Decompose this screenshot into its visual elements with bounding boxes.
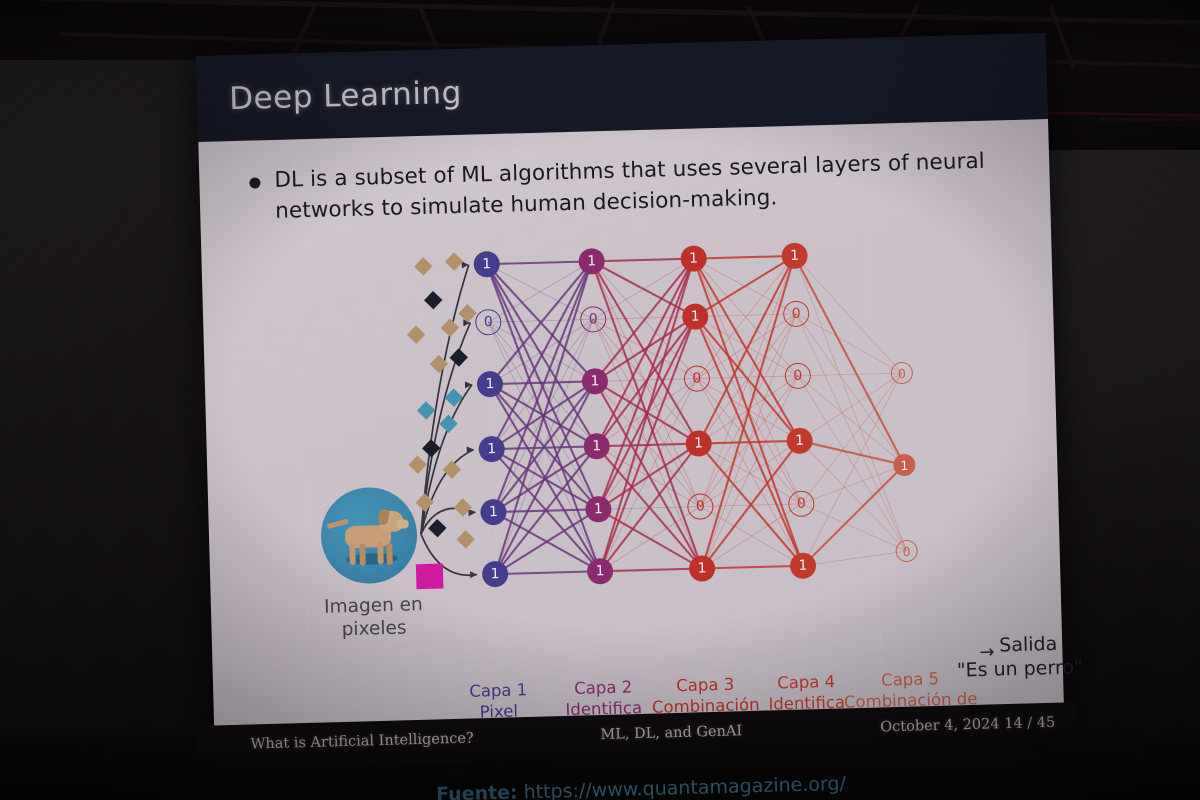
slide-body: DL is a subset of ML algorithms that use… [198,119,1064,748]
layer-caption-title-1: Capa 1 [443,680,554,704]
network-edges [201,229,1063,692]
projected-slide: Deep Learning DL is a subset of ML algor… [196,33,1064,748]
output-label: Salida [999,633,1058,657]
bullet-dot-icon [249,177,260,188]
bullet-text: DL is a subset of ML algorithms that use… [274,146,1020,227]
footer-page-number: 14 / 45 [1004,715,1055,732]
source-prefix: Fuente: [436,782,518,800]
page-title: Deep Learning [229,75,463,117]
pixel-square-highlight [416,564,444,590]
footer-date: October 4, 2024 [880,716,1000,735]
footer-talk-title: What is Artificial Intelligence? [250,730,474,752]
footer-section: ML, DL, and GenAI [600,723,742,743]
presentation-room-photo: Deep Learning DL is a subset of ML algor… [0,0,1200,800]
left-wall [0,60,210,800]
bullet-item: DL is a subset of ML algorithms that use… [249,146,1020,228]
neural-network-diagram: Imagen en pixeles 1011111011111101011001… [201,229,1063,692]
